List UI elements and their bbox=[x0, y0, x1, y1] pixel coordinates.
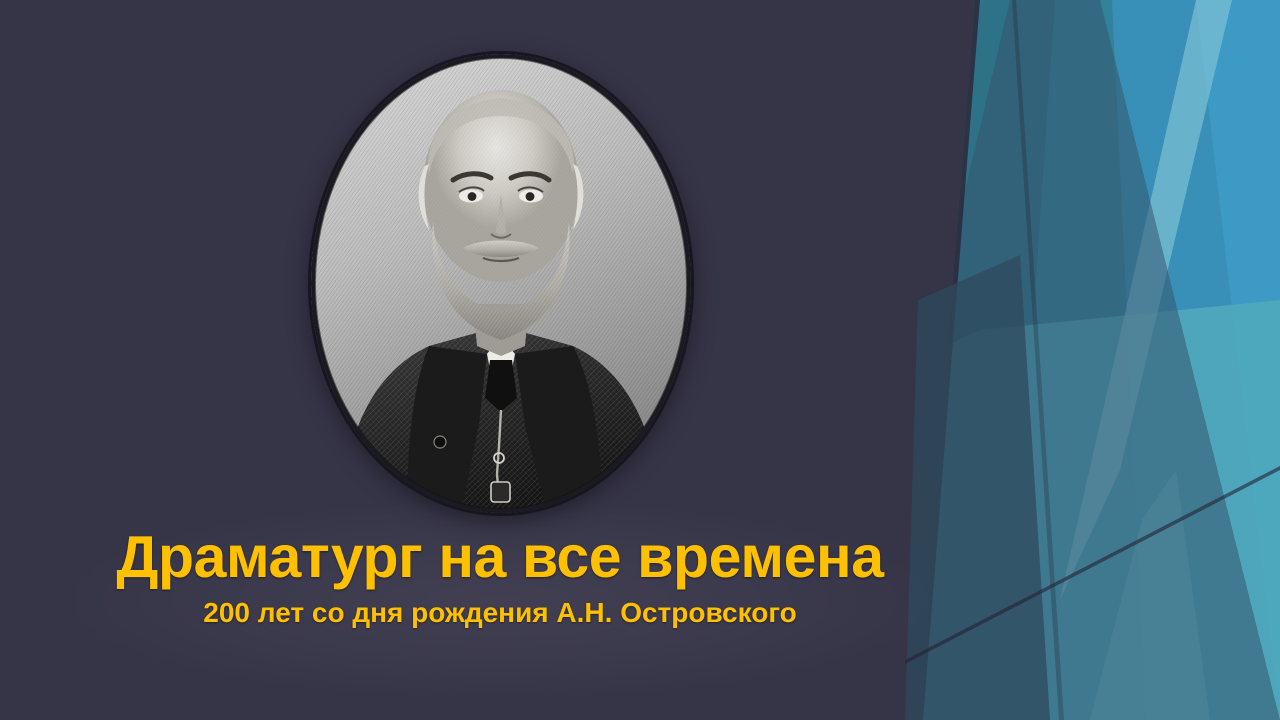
page-title: Драматург на все времена bbox=[0, 527, 1000, 588]
title-text-block: Драматург на все времена 200 лет со дня … bbox=[0, 527, 1000, 629]
portrait-engraving bbox=[311, 54, 691, 513]
page-subtitle: 200 лет со дня рождения А.Н. Островского bbox=[0, 598, 1000, 629]
presentation-slide: Драматург на все времена 200 лет со дня … bbox=[0, 0, 1280, 720]
portrait-image bbox=[311, 54, 691, 513]
